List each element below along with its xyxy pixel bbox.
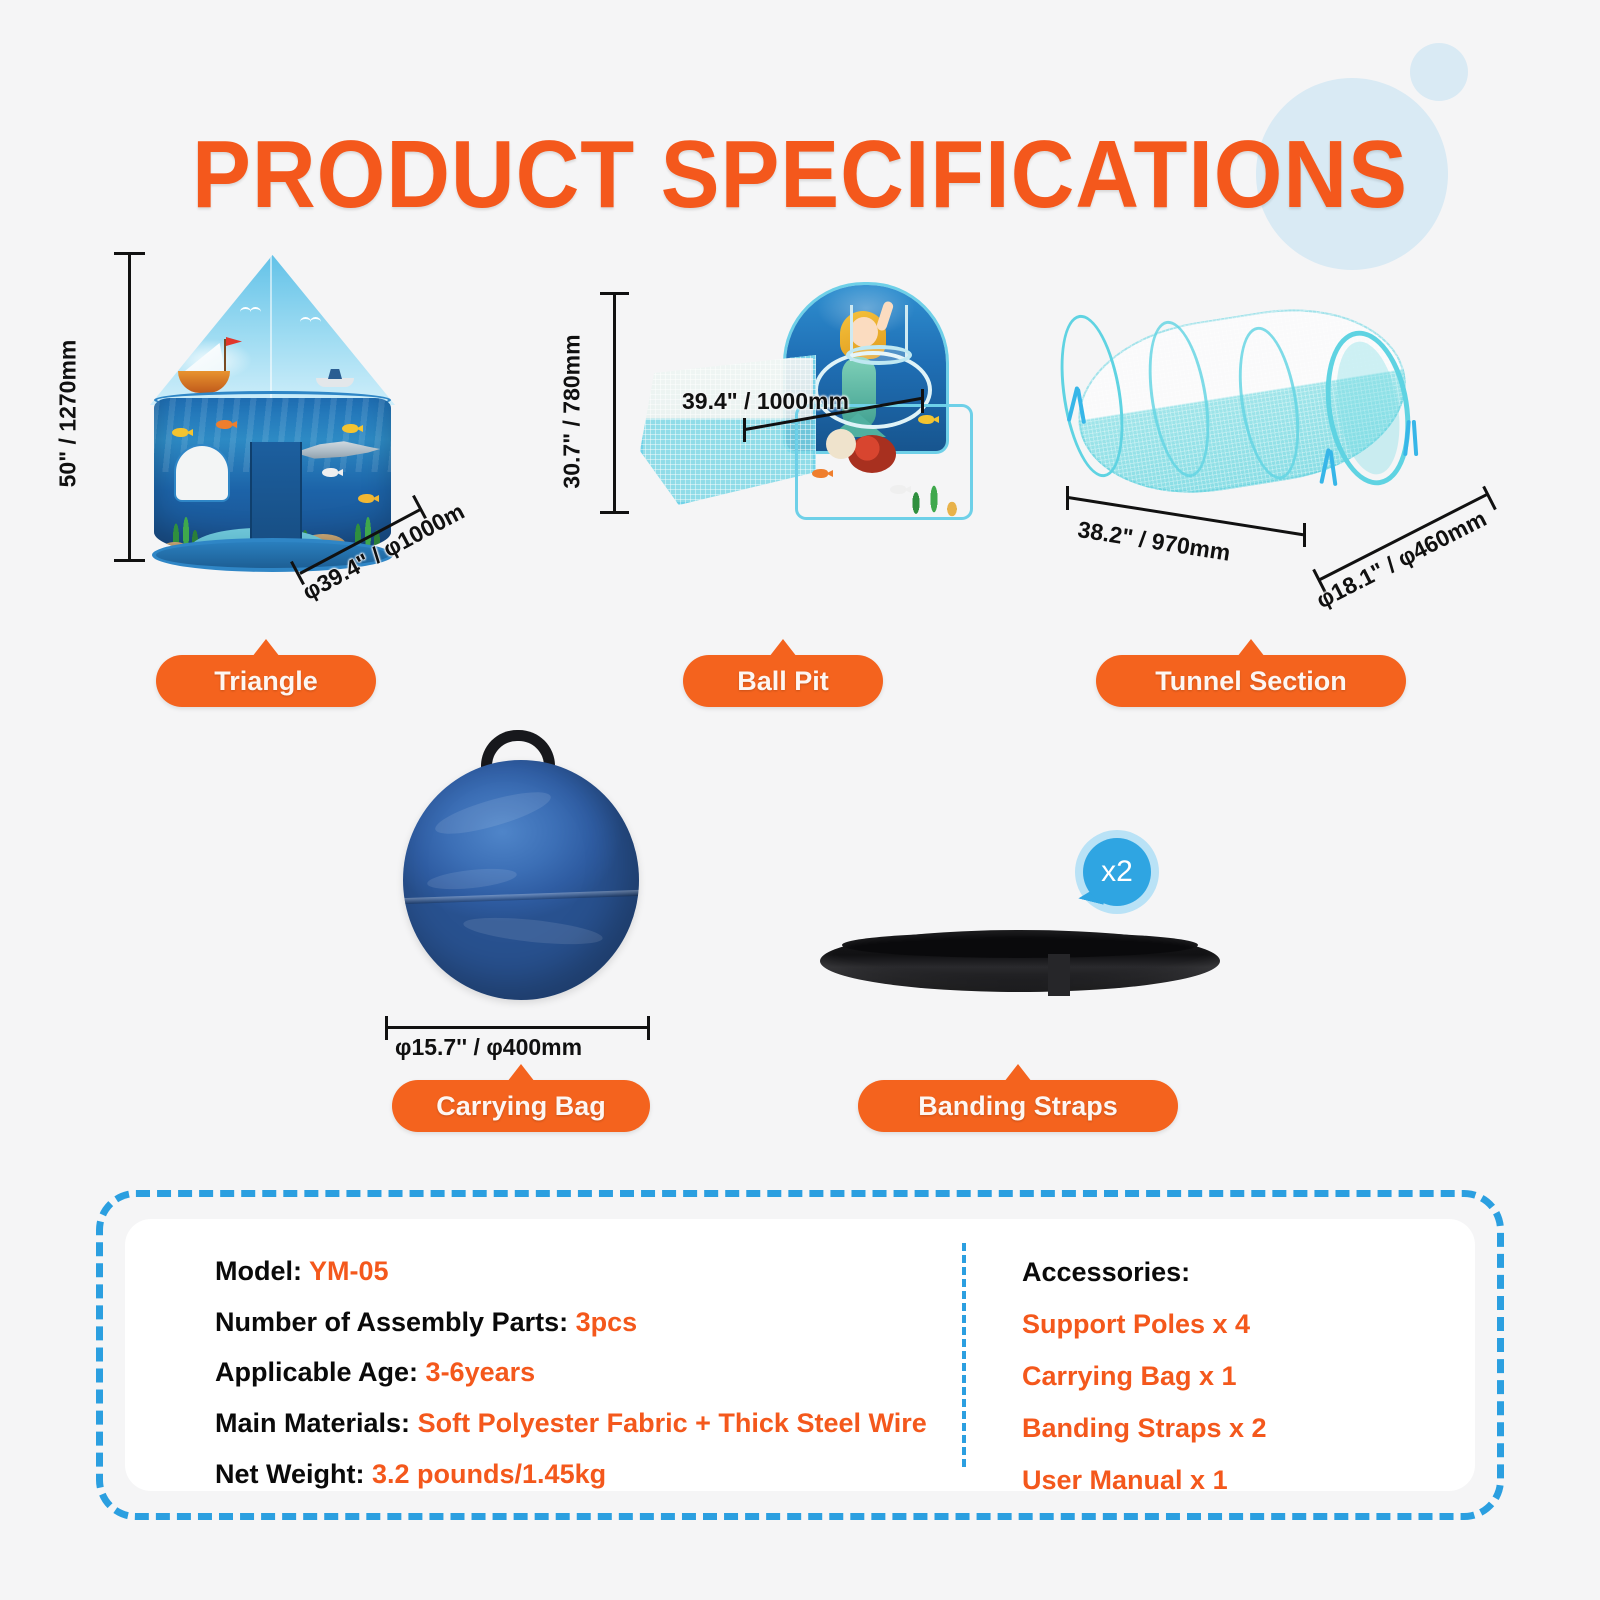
badge-triangle[interactable]: Triangle [156,655,376,707]
tunnel-diameter-dimension-label: φ18.1" / φ460mm [1312,505,1491,614]
banding-strap-ring [820,930,1220,992]
fish-graphic [342,424,358,433]
basketball-rim [846,345,912,365]
boat-graphic [310,367,354,387]
spec-value-assembly-parts: 3pcs [576,1307,638,1337]
fish-graphic [358,494,374,503]
spec-row-net-weight: Net Weight: 3.2 pounds/1.45kg [215,1460,962,1490]
ballpit-height-tick-top [600,292,629,295]
carrying-bag-image [395,730,645,1005]
fish-graphic [812,469,828,478]
badge-ball-pit-label: Ball Pit [737,666,829,697]
badge-tunnel-section-label: Tunnel Section [1155,666,1347,697]
ballpit-width-tick-left [743,418,746,442]
spec-label-applicable-age: Applicable Age: [215,1357,418,1387]
accessory-item-carrying-bag: Carrying Bag x 1 [1022,1361,1475,1392]
page-title: PRODUCT SPECIFICATIONS [64,120,1536,230]
spec-label-model: Model: [215,1256,302,1286]
tent-height-dimension-line [128,252,131,562]
tent-height-tick-bottom [114,559,145,562]
bag-diameter-tick-left [385,1016,388,1040]
tent-roof [150,255,395,405]
badge-carrying-bag-label: Carrying Bag [436,1091,606,1122]
spec-value-main-materials: Soft Polyester Fabric + Thick Steel Wire [418,1408,927,1438]
ballpit-width-tick-right [921,389,924,413]
spec-label-main-materials: Main Materials: [215,1408,410,1438]
product-specifications-page: PRODUCT SPECIFICATIONS [0,0,1600,1600]
sailboat-flag-graphic [226,337,242,346]
tent-body [154,398,391,558]
bag-diameter-dimension-line [385,1026,650,1029]
spec-row-applicable-age: Applicable Age: 3-6years [215,1358,962,1388]
ballpit-height-dimension-line [613,292,616,514]
seagull-graphic [300,317,322,325]
tunnel-length-tick-left [1066,486,1069,510]
accessories-heading: Accessories: [1022,1257,1475,1288]
sailboat-hull-graphic [178,371,230,393]
fish-graphic [890,485,906,494]
tunnel-diameter-tick-right [1482,486,1496,511]
badge-tunnel-section[interactable]: Tunnel Section [1096,655,1406,707]
fabric-fold [462,913,604,950]
spec-value-model: YM-05 [309,1256,389,1286]
tent-height-tick-top [114,252,145,255]
quantity-badge-bubble: x2 [1075,830,1159,914]
tunnel-section-image [1055,300,1455,515]
shark-graphic [294,434,380,464]
spec-value-applicable-age: 3-6years [426,1357,536,1387]
spec-value-net-weight: 3.2 pounds/1.45kg [372,1459,606,1489]
tent-height-dimension-label: 50" / 1270mm [54,340,81,488]
accessory-item-support-poles: Support Poles x 4 [1022,1309,1475,1340]
carrying-bag-seam [403,890,639,904]
spec-label-net-weight: Net Weight: [215,1459,365,1489]
spec-row-assembly-parts: Number of Assembly Parts: 3pcs [215,1308,962,1338]
ball-pit-front-panel [798,407,970,517]
badge-carrying-bag[interactable]: Carrying Bag [392,1080,650,1132]
ballpit-height-dimension-label: 30.7" / 780mm [559,334,586,488]
fabric-fold [432,784,555,842]
turtle-graphic [826,425,896,481]
banding-straps-image: x2 [820,920,1220,1010]
accessories-list: Accessories: Support Poles x 4 Carrying … [962,1219,1475,1491]
badge-banding-straps[interactable]: Banding Straps [858,1080,1178,1132]
decorative-circle-small [1410,43,1468,101]
accessory-item-user-manual: User Manual x 1 [1022,1465,1475,1496]
tunnel-length-dimension-label: 38.2" / 970mm [1076,516,1232,567]
badge-ball-pit[interactable]: Ball Pit [683,655,883,707]
seagull-graphic [240,307,262,315]
fish-graphic [216,420,232,429]
ballpit-width-dimension-label: 39.4" / 1000mm [682,388,849,415]
badge-triangle-label: Triangle [214,666,318,697]
banding-strap-tab [1048,954,1070,996]
carrying-bag-body [403,760,639,1000]
ball-pit-mesh-wall [640,355,816,505]
accessory-item-banding-straps: Banding Straps x 2 [1022,1413,1475,1444]
coral-graphic [904,477,964,517]
fish-graphic [918,415,934,424]
ballpit-height-tick-bottom [600,511,629,514]
fish-graphic [322,468,338,477]
tent-window [176,446,228,500]
bag-diameter-tick-right [647,1016,650,1040]
badge-banding-straps-label: Banding Straps [918,1091,1118,1122]
fabric-fold [426,865,517,892]
vertical-dashed-divider [962,1243,966,1467]
tunnel-tie-strap [1412,420,1419,456]
spec-row-model: Model: YM-05 [215,1257,962,1287]
tunnel-length-tick-right [1303,523,1306,547]
bag-diameter-dimension-label: φ15.7'' / φ400mm [395,1034,582,1061]
specification-box: Model: YM-05 Number of Assembly Parts: 3… [96,1190,1504,1520]
palm-tree-graphic [150,255,176,289]
spec-row-main-materials: Main Materials: Soft Polyester Fabric + … [215,1409,962,1439]
specification-list: Model: YM-05 Number of Assembly Parts: 3… [125,1219,962,1491]
spec-label-assembly-parts: Number of Assembly Parts: [215,1307,568,1337]
fish-graphic [172,428,188,437]
specification-panel: Model: YM-05 Number of Assembly Parts: 3… [125,1219,1475,1491]
quantity-badge-value: x2 [1083,838,1151,906]
banding-strap-inner-edge [842,932,1198,958]
triangle-tent-image [150,255,395,575]
